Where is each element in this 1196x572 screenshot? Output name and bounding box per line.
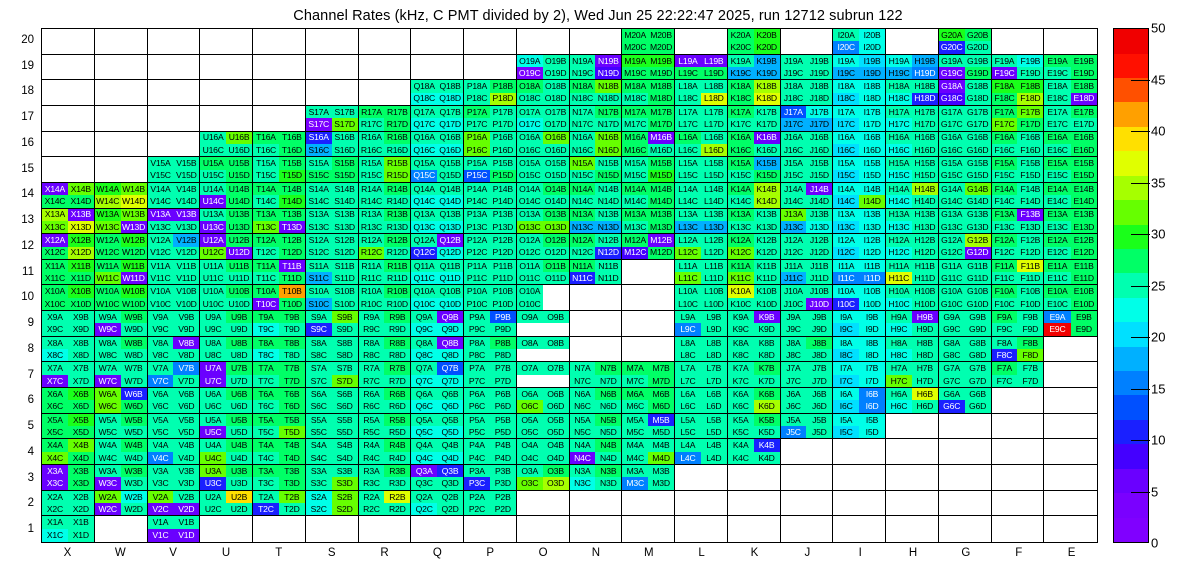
tower-cell-N20: [570, 29, 623, 55]
channel-X16C: [42, 144, 68, 156]
tower-cell-X10: X10AX10BX10CX10D: [42, 285, 95, 311]
channel-K16C: K16C: [728, 144, 754, 156]
channel-H3C: [886, 477, 912, 489]
channel-Q8C: Q8C: [411, 349, 437, 361]
channel-H11B: H11B: [912, 260, 938, 272]
channel-T12C: T12C: [253, 247, 279, 259]
channel-R3A: R3A: [359, 465, 385, 477]
tower-cell-I6: I6AI6BI6CI6D: [833, 388, 886, 414]
channel-E7D: [1071, 375, 1097, 387]
channel-K14A: K14A: [728, 183, 754, 195]
channel-I10B: I10B: [859, 285, 885, 297]
channel-M8C: [622, 349, 648, 361]
channel-I14D: I14D: [859, 195, 885, 207]
channel-W9A: W9A: [95, 311, 121, 323]
channel-R6D: R6D: [384, 400, 410, 412]
channel-F7C: F7C: [992, 375, 1018, 387]
channel-J15B: J15B: [806, 157, 832, 169]
channel-T20C: [253, 41, 279, 53]
channel-P20D: [490, 41, 516, 53]
channel-J9A: J9A: [781, 311, 807, 323]
channel-Q13D: Q13D: [437, 221, 463, 233]
channel-N8A: [570, 337, 596, 349]
channel-L2C: [675, 503, 701, 515]
channel-S3D: S3D: [332, 477, 358, 489]
tower-cell-H18: H18AH18BH18CH18D: [886, 80, 939, 106]
channel-G3C: [939, 477, 965, 489]
y-tick-17: 17: [6, 111, 34, 123]
channel-X3A: X3A: [42, 465, 68, 477]
tower-cell-X3: X3AX3BX3CX3D: [42, 465, 95, 491]
channel-F14A: F14A: [992, 183, 1018, 195]
tower-cell-K17: K17AK17BK17CK17D: [728, 106, 781, 132]
channel-E17A: E17A: [1044, 106, 1070, 118]
channel-E14B: E14B: [1071, 183, 1097, 195]
channel-E9C: E9C: [1044, 323, 1070, 335]
channel-Q12D: Q12D: [437, 247, 463, 259]
channel-E2C: [1044, 503, 1070, 515]
channel-P15D: P15D: [490, 170, 516, 182]
channel-H7B: H7B: [912, 362, 938, 374]
channel-O13C: O13C: [517, 221, 543, 233]
channel-W19D: [121, 67, 147, 79]
channel-G5B: [965, 414, 991, 426]
tower-cell-I15: I15AI15BI15CI15D: [833, 157, 886, 183]
channel-L7B: L7B: [701, 362, 727, 374]
channel-H11D: H11D: [912, 272, 938, 284]
channel-I15C: I15C: [833, 170, 859, 182]
channel-W2C: W2C: [95, 503, 121, 515]
channel-X14A: X14A: [42, 183, 68, 195]
channel-V1B: V1B: [173, 516, 199, 529]
channel-V7C: V7C: [148, 375, 174, 387]
channel-N20D: [595, 41, 621, 53]
channel-M2D: [648, 503, 674, 515]
colorbar-tick-5: 5: [1151, 485, 1158, 498]
channel-N17D: N17D: [595, 118, 621, 130]
channel-L8D: L8D: [701, 349, 727, 361]
tower-cell-N5: N5AN5BN5CN5D: [570, 414, 623, 440]
channel-G10B: G10B: [965, 285, 991, 297]
channel-E19B: E19B: [1071, 55, 1097, 67]
channel-X9D: X9D: [68, 323, 94, 335]
channel-R6B: R6B: [384, 388, 410, 400]
channel-G4C: [939, 452, 965, 464]
channel-V6D: V6D: [173, 400, 199, 412]
y-tick-1: 1: [6, 523, 34, 535]
channel-N18A: N18A: [570, 80, 596, 92]
channel-L2A: [675, 491, 701, 503]
channel-H17A: H17A: [886, 106, 912, 118]
channel-J9C: J9C: [781, 323, 807, 335]
channel-N12B: N12B: [595, 234, 621, 246]
channel-U16B: U16B: [226, 132, 252, 144]
channel-J14D: J14D: [806, 195, 832, 207]
channel-T4A: T4A: [253, 439, 279, 451]
tower-cell-H20: [886, 29, 939, 55]
channel-S5C: S5C: [306, 426, 332, 438]
channel-O8B: O8B: [543, 337, 569, 349]
channel-K13B: K13B: [754, 209, 780, 221]
channel-M12C: M12C: [622, 247, 648, 259]
channel-X8C: X8C: [42, 349, 68, 361]
channel-Q10D: Q10D: [437, 298, 463, 310]
channel-L9C: L9C: [675, 323, 701, 335]
channel-Q18A: Q18A: [411, 80, 437, 92]
channel-S18A: [306, 80, 332, 92]
channel-H13A: H13A: [886, 209, 912, 221]
channel-Q14A: Q14A: [411, 183, 437, 195]
tower-cell-X16: [42, 132, 95, 158]
channel-O5B: O5B: [543, 414, 569, 426]
channel-R12A: R12A: [359, 234, 385, 246]
channel-I9A: I9A: [833, 311, 859, 323]
tower-cell-E18: E18AE18BE18CE18D: [1044, 80, 1097, 106]
channel-T17B: [279, 106, 305, 118]
channel-S6A: S6A: [306, 388, 332, 400]
channel-E5D: [1071, 426, 1097, 438]
channel-O16B: O16B: [543, 132, 569, 144]
channel-T13A: T13A: [253, 209, 279, 221]
tower-cell-M20: M20AM20BM20CM20D: [622, 29, 675, 55]
channel-G13D: G13D: [965, 221, 991, 233]
channel-X6A: X6A: [42, 388, 68, 400]
channel-X10B: X10B: [68, 285, 94, 297]
channel-W7D: W7D: [121, 375, 147, 387]
tower-cell-V1: V1AV1BV1CV1D: [148, 516, 201, 542]
channel-Q7D: Q7D: [437, 375, 463, 387]
channel-G18A: G18A: [939, 80, 965, 92]
channel-H4D: [912, 452, 938, 464]
tower-cell-S18: [306, 80, 359, 106]
channel-K20B: K20B: [754, 29, 780, 41]
channel-I7C: I7C: [833, 375, 859, 387]
channel-N9A: [570, 311, 596, 323]
tower-cell-M7: M7AM7BM7CM7D: [622, 362, 675, 388]
channel-T17D: [279, 118, 305, 130]
channel-E18A: E18A: [1044, 80, 1070, 92]
tower-cell-U14: U14AU14BU14CU14D: [200, 183, 253, 209]
tower-cell-P11: P11AP11BP11CP11D: [464, 260, 517, 286]
channel-P4C: P4C: [464, 452, 490, 464]
channel-I10D: I10D: [859, 298, 885, 310]
channel-E9B: E9B: [1071, 311, 1097, 323]
tower-cell-I4: [833, 439, 886, 465]
channel-M17C: M17C: [622, 118, 648, 130]
x-tick-J: J: [781, 547, 834, 567]
channel-F13C: F13C: [992, 221, 1018, 233]
channel-N11A: N11A: [570, 260, 596, 272]
channel-R16A: R16A: [359, 132, 385, 144]
channel-T11B: T11B: [279, 260, 305, 272]
channel-N3C: N3C: [570, 477, 596, 489]
channel-O9B: O9B: [543, 311, 569, 323]
tower-cell-V16: [148, 132, 201, 158]
channel-I9B: I9B: [859, 311, 885, 323]
tower-cell-J18: J18AJ18BJ18CJ18D: [781, 80, 834, 106]
channel-H6D: H6D: [912, 400, 938, 412]
tower-cell-T19: [253, 55, 306, 81]
channel-R5A: R5A: [359, 414, 385, 426]
channel-S5D: S5D: [332, 426, 358, 438]
channel-F20C: [992, 41, 1018, 53]
channel-R8C: R8C: [359, 349, 385, 361]
channel-R15D: R15D: [384, 170, 410, 182]
channel-X18B: [68, 80, 94, 92]
channel-Q18B: Q18B: [437, 80, 463, 92]
channel-W13A: W13A: [95, 209, 121, 221]
tower-cell-F14: F14AF14BF14CF14D: [992, 183, 1045, 209]
channel-F5A: [992, 414, 1018, 426]
channel-P16D: P16D: [490, 144, 516, 156]
tower-cell-N2: [570, 491, 623, 517]
channel-J8C: J8C: [781, 349, 807, 361]
channel-V13D: V13D: [173, 221, 199, 233]
tower-cell-H16: H16AH16BH16CH16D: [886, 132, 939, 158]
tower-cell-O3: O3AO3BO3CO3D: [517, 465, 570, 491]
tower-cell-P1: [464, 516, 517, 542]
channel-L1B: [701, 516, 727, 529]
channel-N15A: N15A: [570, 157, 596, 169]
channel-N10A: [570, 285, 596, 297]
tower-cell-U7: U7AU7BU7CU7D: [200, 362, 253, 388]
channel-T17A: [253, 106, 279, 118]
tower-cell-E17: E17AE17BE17CE17D: [1044, 106, 1097, 132]
channel-F12D: F12D: [1017, 247, 1043, 259]
colorbar-tick-10: 10: [1151, 434, 1165, 447]
channel-J18D: J18D: [806, 93, 832, 105]
channel-T12B: T12B: [279, 234, 305, 246]
channel-S9C: S9C: [306, 323, 332, 335]
channel-F9C: F9C: [992, 323, 1018, 335]
tower-cell-Q2: Q2AQ2BQ2CQ2D: [411, 491, 464, 517]
channel-F12B: F12B: [1017, 234, 1043, 246]
channel-G2C: [939, 503, 965, 515]
tower-cell-J16: J16AJ16BJ16CJ16D: [781, 132, 834, 158]
tower-cell-S20: [306, 29, 359, 55]
channel-S2B: S2B: [332, 491, 358, 503]
channel-M3D: M3D: [648, 477, 674, 489]
x-tick-K: K: [728, 547, 781, 567]
channel-P16C: P16C: [464, 144, 490, 156]
channel-L2B: [701, 491, 727, 503]
channel-M18D: M18D: [648, 93, 674, 105]
channel-F15B: F15B: [1017, 157, 1043, 169]
channel-P8C: P8C: [464, 349, 490, 361]
tower-cell-G9: G9AG9BG9CG9D: [939, 311, 992, 337]
channel-L12A: L12A: [675, 234, 701, 246]
channel-W6B: W6B: [121, 388, 147, 400]
channel-S14A: S14A: [306, 183, 332, 195]
channel-P9C: P9C: [464, 323, 490, 335]
channel-M8A: [622, 337, 648, 349]
channel-O1A: [517, 516, 543, 529]
channel-O12D: O12D: [543, 247, 569, 259]
channel-P3B: P3B: [490, 465, 516, 477]
channel-X7A: X7A: [42, 362, 68, 374]
channel-M19B: M19B: [648, 55, 674, 67]
tower-cell-H8: H8AH8BH8CH8D: [886, 337, 939, 363]
channel-M19D: M19D: [648, 67, 674, 79]
tower-cell-G10: G10AG10BG10CG10D: [939, 285, 992, 311]
channel-N5D: N5D: [595, 426, 621, 438]
channel-V20A: [148, 29, 174, 41]
channel-S17C: S17C: [306, 118, 332, 130]
channel-H13C: H13C: [886, 221, 912, 233]
x-tick-L: L: [675, 547, 728, 567]
tower-cell-O16: O16AO16BO16CO16D: [517, 132, 570, 158]
tower-cell-R18: [359, 80, 412, 106]
channel-Q19B: [437, 55, 463, 67]
channel-V9B: V9B: [173, 311, 199, 323]
channel-I4B: [859, 439, 885, 451]
channel-H13D: H13D: [912, 221, 938, 233]
y-tick-4: 4: [6, 446, 34, 458]
channel-V15A: V15A: [148, 157, 174, 169]
channel-K20D: K20D: [754, 41, 780, 53]
channel-H14D: H14D: [912, 195, 938, 207]
channel-P6C: P6C: [464, 400, 490, 412]
channel-V20D: [173, 41, 199, 53]
channel-S18B: [332, 80, 358, 92]
channel-R17D: R17D: [384, 118, 410, 130]
tower-cell-N7: N7AN7BN7CN7D: [570, 362, 623, 388]
channel-W3B: W3B: [121, 465, 147, 477]
tower-cell-P5: P5AP5BP5CP5D: [464, 414, 517, 440]
channel-X1D: X1D: [68, 529, 94, 542]
channel-W18A: [95, 80, 121, 92]
channel-O13A: O13A: [517, 209, 543, 221]
channel-O12B: O12B: [543, 234, 569, 246]
channel-H1A: [886, 516, 912, 529]
channel-U19C: [200, 67, 226, 79]
channel-P11D: P11D: [490, 272, 516, 284]
channel-K15C: K15C: [728, 170, 754, 182]
channel-G14A: G14A: [939, 183, 965, 195]
channel-K18B: K18B: [754, 80, 780, 92]
channel-M12A: M12A: [622, 234, 648, 246]
x-axis: XWVUTSRQPONMLKJIHGFE: [41, 547, 1098, 567]
channel-E6D: [1071, 400, 1097, 412]
tower-cell-O8: O8AO8B: [517, 337, 570, 363]
channel-Q14C: Q14C: [411, 195, 437, 207]
tower-cell-T1: [253, 516, 306, 542]
channel-T10D: T10D: [279, 298, 305, 310]
channel-E4C: [1044, 452, 1070, 464]
channel-T8B: T8B: [279, 337, 305, 349]
channel-S11C: S11C: [306, 272, 332, 284]
channel-O10B: [543, 285, 569, 297]
channel-E15B: E15B: [1071, 157, 1097, 169]
channel-P6A: P6A: [464, 388, 490, 400]
tower-cell-L1: [675, 516, 728, 542]
channel-V15C: V15C: [148, 170, 174, 182]
channel-L7C: L7C: [675, 375, 701, 387]
channel-S17B: S17B: [332, 106, 358, 118]
channel-T12A: T12A: [253, 234, 279, 246]
channel-F15D: F15D: [1017, 170, 1043, 182]
tower-cell-W19: [95, 55, 148, 81]
channel-X10C: X10C: [42, 298, 68, 310]
channel-J1C: [781, 529, 807, 542]
tower-cell-V5: V5AV5BV5CV5D: [148, 414, 201, 440]
channel-P16A: P16A: [464, 132, 490, 144]
channel-N1A: [570, 516, 596, 529]
channel-J5A: J5A: [781, 414, 807, 426]
tower-cell-U17: [200, 106, 253, 132]
channel-M14B: M14B: [648, 183, 674, 195]
channel-P10B: P10B: [490, 285, 516, 297]
channel-X7B: X7B: [68, 362, 94, 374]
channel-X16D: [68, 144, 94, 156]
tower-cell-F9: F9AF9BF9CF9D: [992, 311, 1045, 337]
channel-Q11C: Q11C: [411, 272, 437, 284]
channel-V14B: V14B: [173, 183, 199, 195]
channel-M20D: M20D: [648, 41, 674, 53]
channel-T9D: T9D: [279, 323, 305, 335]
tower-cell-T3: T3AT3BT3CT3D: [253, 465, 306, 491]
channel-O1D: [543, 529, 569, 542]
channel-E15A: E15A: [1044, 157, 1070, 169]
channel-K10D: K10D: [754, 298, 780, 310]
tower-cell-W6: W6AW6BW6CW6D: [95, 388, 148, 414]
channel-H3B: [912, 465, 938, 477]
channel-G13A: G13A: [939, 209, 965, 221]
x-tick-E: E: [1045, 547, 1098, 567]
channel-W10A: W10A: [95, 285, 121, 297]
channel-O15A: O15A: [517, 157, 543, 169]
channel-Q1C: [411, 529, 437, 542]
tower-cell-J11: J11AJ11BJ11CJ11D: [781, 260, 834, 286]
channel-L10B: L10B: [701, 285, 727, 297]
tower-cell-I14: I14AI14BI14CI14D: [833, 183, 886, 209]
tower-cell-S5: S5AS5BS5CS5D: [306, 414, 359, 440]
channel-I16A: I16A: [833, 132, 859, 144]
channel-T5D: T5D: [279, 426, 305, 438]
channel-H20D: [912, 41, 938, 53]
channel-X2C: X2C: [42, 503, 68, 515]
channel-J12C: J12C: [781, 247, 807, 259]
channel-P12B: P12B: [490, 234, 516, 246]
colorbar-tick-25: 25: [1151, 279, 1165, 292]
channel-J8A: J8A: [781, 337, 807, 349]
channel-E2D: [1071, 503, 1097, 515]
channel-M15C: M15C: [622, 170, 648, 182]
tower-cell-W18: [95, 80, 148, 106]
channel-S12A: S12A: [306, 234, 332, 246]
channel-X1B: X1B: [68, 516, 94, 529]
tower-cell-S17: S17AS17BS17CS17D: [306, 106, 359, 132]
channel-L1A: [675, 516, 701, 529]
channel-P5C: P5C: [464, 426, 490, 438]
channel-O17C: O17C: [517, 118, 543, 130]
channel-P12D: P12D: [490, 247, 516, 259]
channel-L4C: L4C: [675, 452, 701, 464]
channel-L16D: L16D: [701, 144, 727, 156]
channel-E7B: [1071, 362, 1097, 374]
channel-R9D: R9D: [384, 323, 410, 335]
tower-cell-X17: [42, 106, 95, 132]
channel-I8B: I8B: [859, 337, 885, 349]
channel-K6B: K6B: [754, 388, 780, 400]
channel-L3D: [701, 477, 727, 489]
channel-I14C: I14C: [833, 195, 859, 207]
tower-cell-F6: [992, 388, 1045, 414]
channel-P18B: P18B: [490, 80, 516, 92]
channel-V8A: V8A: [148, 337, 174, 349]
channel-U17A: [200, 106, 226, 118]
tower-cell-H5: [886, 414, 939, 440]
